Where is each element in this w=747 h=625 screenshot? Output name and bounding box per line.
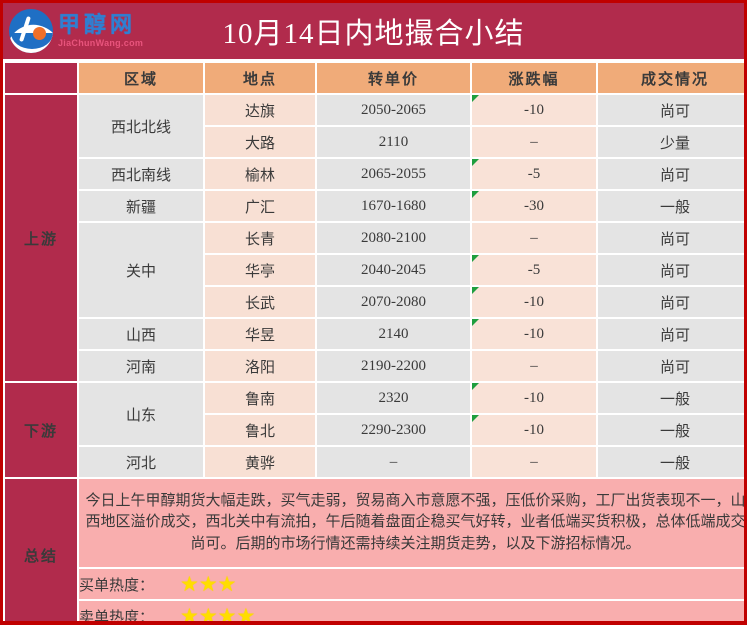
place-cell: 鲁南: [205, 383, 315, 413]
status-cell: 一般: [598, 415, 747, 445]
buy-heat-row-cell: 买单热度：★★★: [79, 569, 747, 599]
place-cell: 黄骅: [205, 447, 315, 477]
sell-heat-row: 卖单热度：★★★★: [5, 601, 747, 625]
table-row: 下游山东鲁南2320-10一般: [5, 383, 747, 413]
change-cell-with-note-marker-icon: -10: [472, 383, 596, 413]
status-cell: 尚可: [598, 319, 747, 349]
status-cell: 少量: [598, 127, 747, 157]
change-cell: –: [472, 447, 596, 477]
site-logo: 甲醇网 JiaChunWang.com: [3, 5, 155, 57]
place-cell: 长武: [205, 287, 315, 317]
buy-heat-stars-icon: ★★★: [180, 574, 236, 595]
table-row: 新疆广汇1670-1680-30一般: [5, 191, 747, 221]
price-cell: 2110: [317, 127, 470, 157]
logo-chinese-name: 甲醇网: [58, 14, 143, 36]
region-cell: 西北北线: [79, 95, 203, 157]
region-cell: 关中: [79, 223, 203, 317]
price-cell: –: [317, 447, 470, 477]
price-cell: 2065-2055: [317, 159, 470, 189]
price-cell: 2290-2300: [317, 415, 470, 445]
summary-label: 总结: [5, 479, 77, 625]
price-cell: 2080-2100: [317, 223, 470, 253]
change-cell: –: [472, 351, 596, 381]
place-cell: 华亭: [205, 255, 315, 285]
status-cell: 尚可: [598, 255, 747, 285]
table-row: 上游西北北线达旗2050-2065-10尚可: [5, 95, 747, 125]
table-header-row: 区域地点转单价涨跌幅成交情况: [5, 63, 747, 93]
section-label-downstream: 下游: [5, 383, 77, 477]
region-cell: 河北: [79, 447, 203, 477]
region-cell: 新疆: [79, 191, 203, 221]
report-page: 甲醇网 JiaChunWang.com 10月14日内地撮合小结 区域地点转单价…: [0, 0, 747, 625]
status-cell: 尚可: [598, 223, 747, 253]
price-cell: 2040-2045: [317, 255, 470, 285]
status-cell: 一般: [598, 383, 747, 413]
column-header: 转单价: [317, 63, 470, 93]
table-row: 河南洛阳2190-2200–尚可: [5, 351, 747, 381]
place-cell: 华昱: [205, 319, 315, 349]
region-cell: 山西: [79, 319, 203, 349]
page-header: 甲醇网 JiaChunWang.com 10月14日内地撮合小结: [3, 3, 744, 61]
header-corner-cell: [5, 63, 77, 93]
logo-domain-text: JiaChunWang.com: [58, 39, 143, 48]
change-cell-with-note-marker-icon: -10: [472, 95, 596, 125]
change-cell-with-note-marker-icon: -5: [472, 159, 596, 189]
status-cell: 一般: [598, 191, 747, 221]
table-row: 西北南线榆林2065-2055-5尚可: [5, 159, 747, 189]
region-cell: 河南: [79, 351, 203, 381]
table-row: 关中长青2080-2100–尚可: [5, 223, 747, 253]
sell-heat-stars-icon: ★★★★: [180, 606, 255, 625]
price-cell: 2140: [317, 319, 470, 349]
logo-emblem-icon: [9, 9, 53, 53]
place-cell: 达旗: [205, 95, 315, 125]
place-cell: 大路: [205, 127, 315, 157]
section-label-upstream: 上游: [5, 95, 77, 381]
change-cell-with-note-marker-icon: -10: [472, 319, 596, 349]
summary-row: 总结今日上午甲醇期货大幅走跌，买气走弱，贸易商入市意愿不强，压低价采购，工厂出货…: [5, 479, 747, 567]
price-cell: 1670-1680: [317, 191, 470, 221]
price-cell: 2050-2065: [317, 95, 470, 125]
price-cell: 2320: [317, 383, 470, 413]
table-row: 河北黄骅––一般: [5, 447, 747, 477]
status-cell: 尚可: [598, 159, 747, 189]
change-cell: –: [472, 127, 596, 157]
sell-heat-label: 卖单热度：: [79, 606, 154, 625]
place-cell: 长青: [205, 223, 315, 253]
status-cell: 尚可: [598, 287, 747, 317]
region-cell: 山东: [79, 383, 203, 445]
buy-heat-label: 买单热度：: [79, 574, 154, 595]
buy-heat-row: 买单热度：★★★: [5, 569, 747, 599]
change-cell-with-note-marker-icon: -10: [472, 287, 596, 317]
status-cell: 尚可: [598, 95, 747, 125]
place-cell: 鲁北: [205, 415, 315, 445]
column-header: 涨跌幅: [472, 63, 596, 93]
price-cell: 2070-2080: [317, 287, 470, 317]
region-cell: 西北南线: [79, 159, 203, 189]
place-cell: 榆林: [205, 159, 315, 189]
change-cell: –: [472, 223, 596, 253]
status-cell: 一般: [598, 447, 747, 477]
price-cell: 2190-2200: [317, 351, 470, 381]
change-cell-with-note-marker-icon: -5: [472, 255, 596, 285]
column-header: 成交情况: [598, 63, 747, 93]
column-header: 区域: [79, 63, 203, 93]
column-header: 地点: [205, 63, 315, 93]
table-row: 山西华昱2140-10尚可: [5, 319, 747, 349]
change-cell-with-note-marker-icon: -10: [472, 415, 596, 445]
change-cell-with-note-marker-icon: -30: [472, 191, 596, 221]
place-cell: 洛阳: [205, 351, 315, 381]
summary-table: 区域地点转单价涨跌幅成交情况上游西北北线达旗2050-2065-10尚可大路21…: [3, 61, 747, 625]
status-cell: 尚可: [598, 351, 747, 381]
sell-heat-row-cell: 卖单热度：★★★★: [79, 601, 747, 625]
summary-text: 今日上午甲醇期货大幅走跌，买气走弱，贸易商入市意愿不强，压低价采购，工厂出货表现…: [79, 479, 747, 567]
place-cell: 广汇: [205, 191, 315, 221]
